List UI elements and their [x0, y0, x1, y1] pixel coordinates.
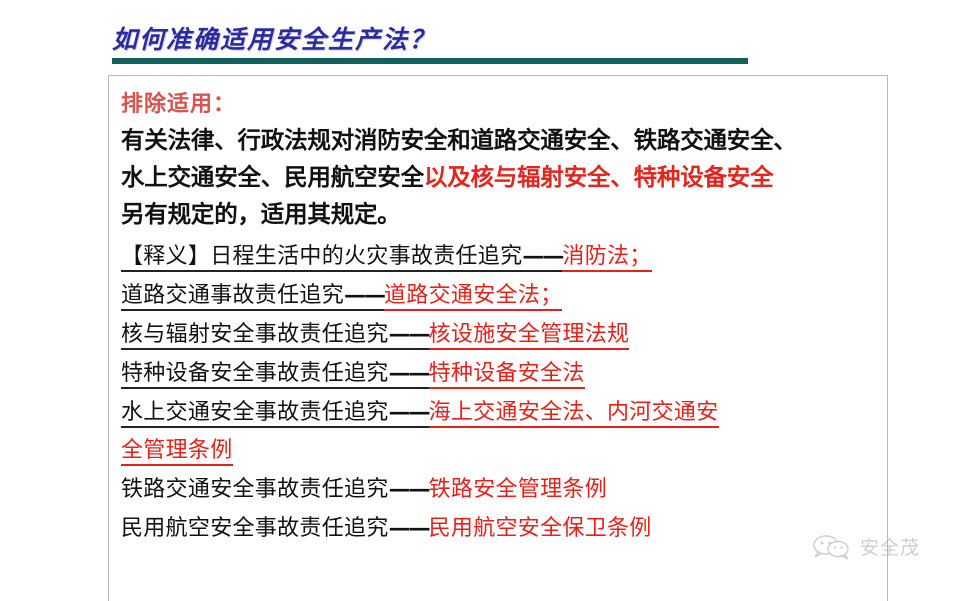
- statute-line-3-text: 另有规定的，适用其规定。: [121, 200, 401, 228]
- annotation-dash-5: ——: [389, 399, 429, 428]
- annotation-statute-4: 特种设备安全法: [429, 361, 585, 389]
- annotation-subject-2: 道路交通事故责任追究: [121, 283, 344, 311]
- annotation-statute-5-continued: 全管理条例: [121, 438, 233, 466]
- annotation-statute-1: 消防法；: [562, 244, 651, 272]
- annotation-subject-1: 日程生活中的火灾事故责任追究: [210, 244, 522, 272]
- annotation-line-2: 道路交通事故责任追究——道路交通安全法；: [121, 276, 877, 315]
- annotation-line-5-continued: 全管理条例: [121, 432, 877, 470]
- annotation-subject-3: 核与辐射安全事故责任追究: [121, 322, 389, 350]
- annotation-statute-3: 核设施安全管理法规: [429, 322, 630, 350]
- statute-line-2: 水上交通安全、民用航空安全以及核与辐射安全、特种设备安全: [121, 159, 877, 196]
- statute-line-1: 有关法律、行政法规对消防安全和道路交通安全、铁路交通安全、: [121, 122, 877, 159]
- statute-paragraph: 有关法律、行政法规对消防安全和道路交通安全、铁路交通安全、 水上交通安全、民用航…: [121, 122, 877, 233]
- annotation-dash-4: ——: [389, 360, 429, 389]
- annotation-statute-7: 民用航空安全保卫条例: [429, 516, 652, 541]
- annotation-line-3: 核与辐射安全事故责任追究——核设施安全管理法规: [121, 315, 877, 354]
- annotation-subject-5: 水上交通安全事故责任追究: [121, 400, 389, 428]
- annotation-line-5: 水上交通安全事故责任追究——海上交通安全法、内河交通安: [121, 393, 877, 432]
- annotation-subject-4: 特种设备安全事故责任追究: [121, 361, 389, 389]
- content-panel: 排除适用： 有关法律、行政法规对消防安全和道路交通安全、铁路交通安全、 水上交通…: [108, 75, 888, 601]
- exclusion-heading: 排除适用：: [121, 88, 877, 122]
- annotation-line-1: 【释义】日程生活中的火灾事故责任追究——消防法；: [121, 237, 877, 276]
- annotation-statute-2: 道路交通安全法；: [384, 283, 562, 311]
- annotation-subject-7: 民用航空安全事故责任追究: [121, 516, 389, 541]
- statute-line-2-red: 以及核与辐射安全、特种设备安全: [424, 163, 774, 191]
- annotation-dash-3: ——: [389, 321, 429, 350]
- annotation-dash-7: ——: [389, 515, 429, 541]
- statute-line-3: 另有规定的，适用其规定。: [121, 196, 877, 233]
- annotation-line-7: 民用航空安全事故责任追究——民用航空安全保卫条例: [121, 509, 877, 548]
- annotation-dash-2: ——: [344, 282, 384, 311]
- statute-line-1-text: 有关法律、行政法规对消防安全和道路交通安全、铁路交通安全、: [121, 126, 797, 154]
- annotation-dash-1: ——: [522, 243, 562, 272]
- statute-line-2-black: 水上交通安全、民用航空安全: [121, 163, 424, 191]
- annotation-statute-5: 海上交通安全法、内河交通安: [429, 400, 719, 428]
- annotation-block: 【释义】日程生活中的火灾事故责任追究——消防法； 道路交通事故责任追究——道路交…: [121, 237, 877, 548]
- annotation-dash-6: ——: [389, 476, 429, 502]
- annotation-subject-6: 铁路交通安全事故责任追究: [121, 477, 389, 502]
- annotation-statute-6: 铁路安全管理条例: [429, 477, 607, 502]
- annotation-label: 【释义】: [121, 244, 210, 272]
- page-title: 如何准确适用安全生产法？: [112, 20, 436, 56]
- annotation-line-4: 特种设备安全事故责任追究——特种设备安全法: [121, 354, 877, 393]
- annotation-line-6: 铁路交通安全事故责任追究——铁路安全管理条例: [121, 470, 877, 509]
- title-underline-rule: [112, 58, 748, 64]
